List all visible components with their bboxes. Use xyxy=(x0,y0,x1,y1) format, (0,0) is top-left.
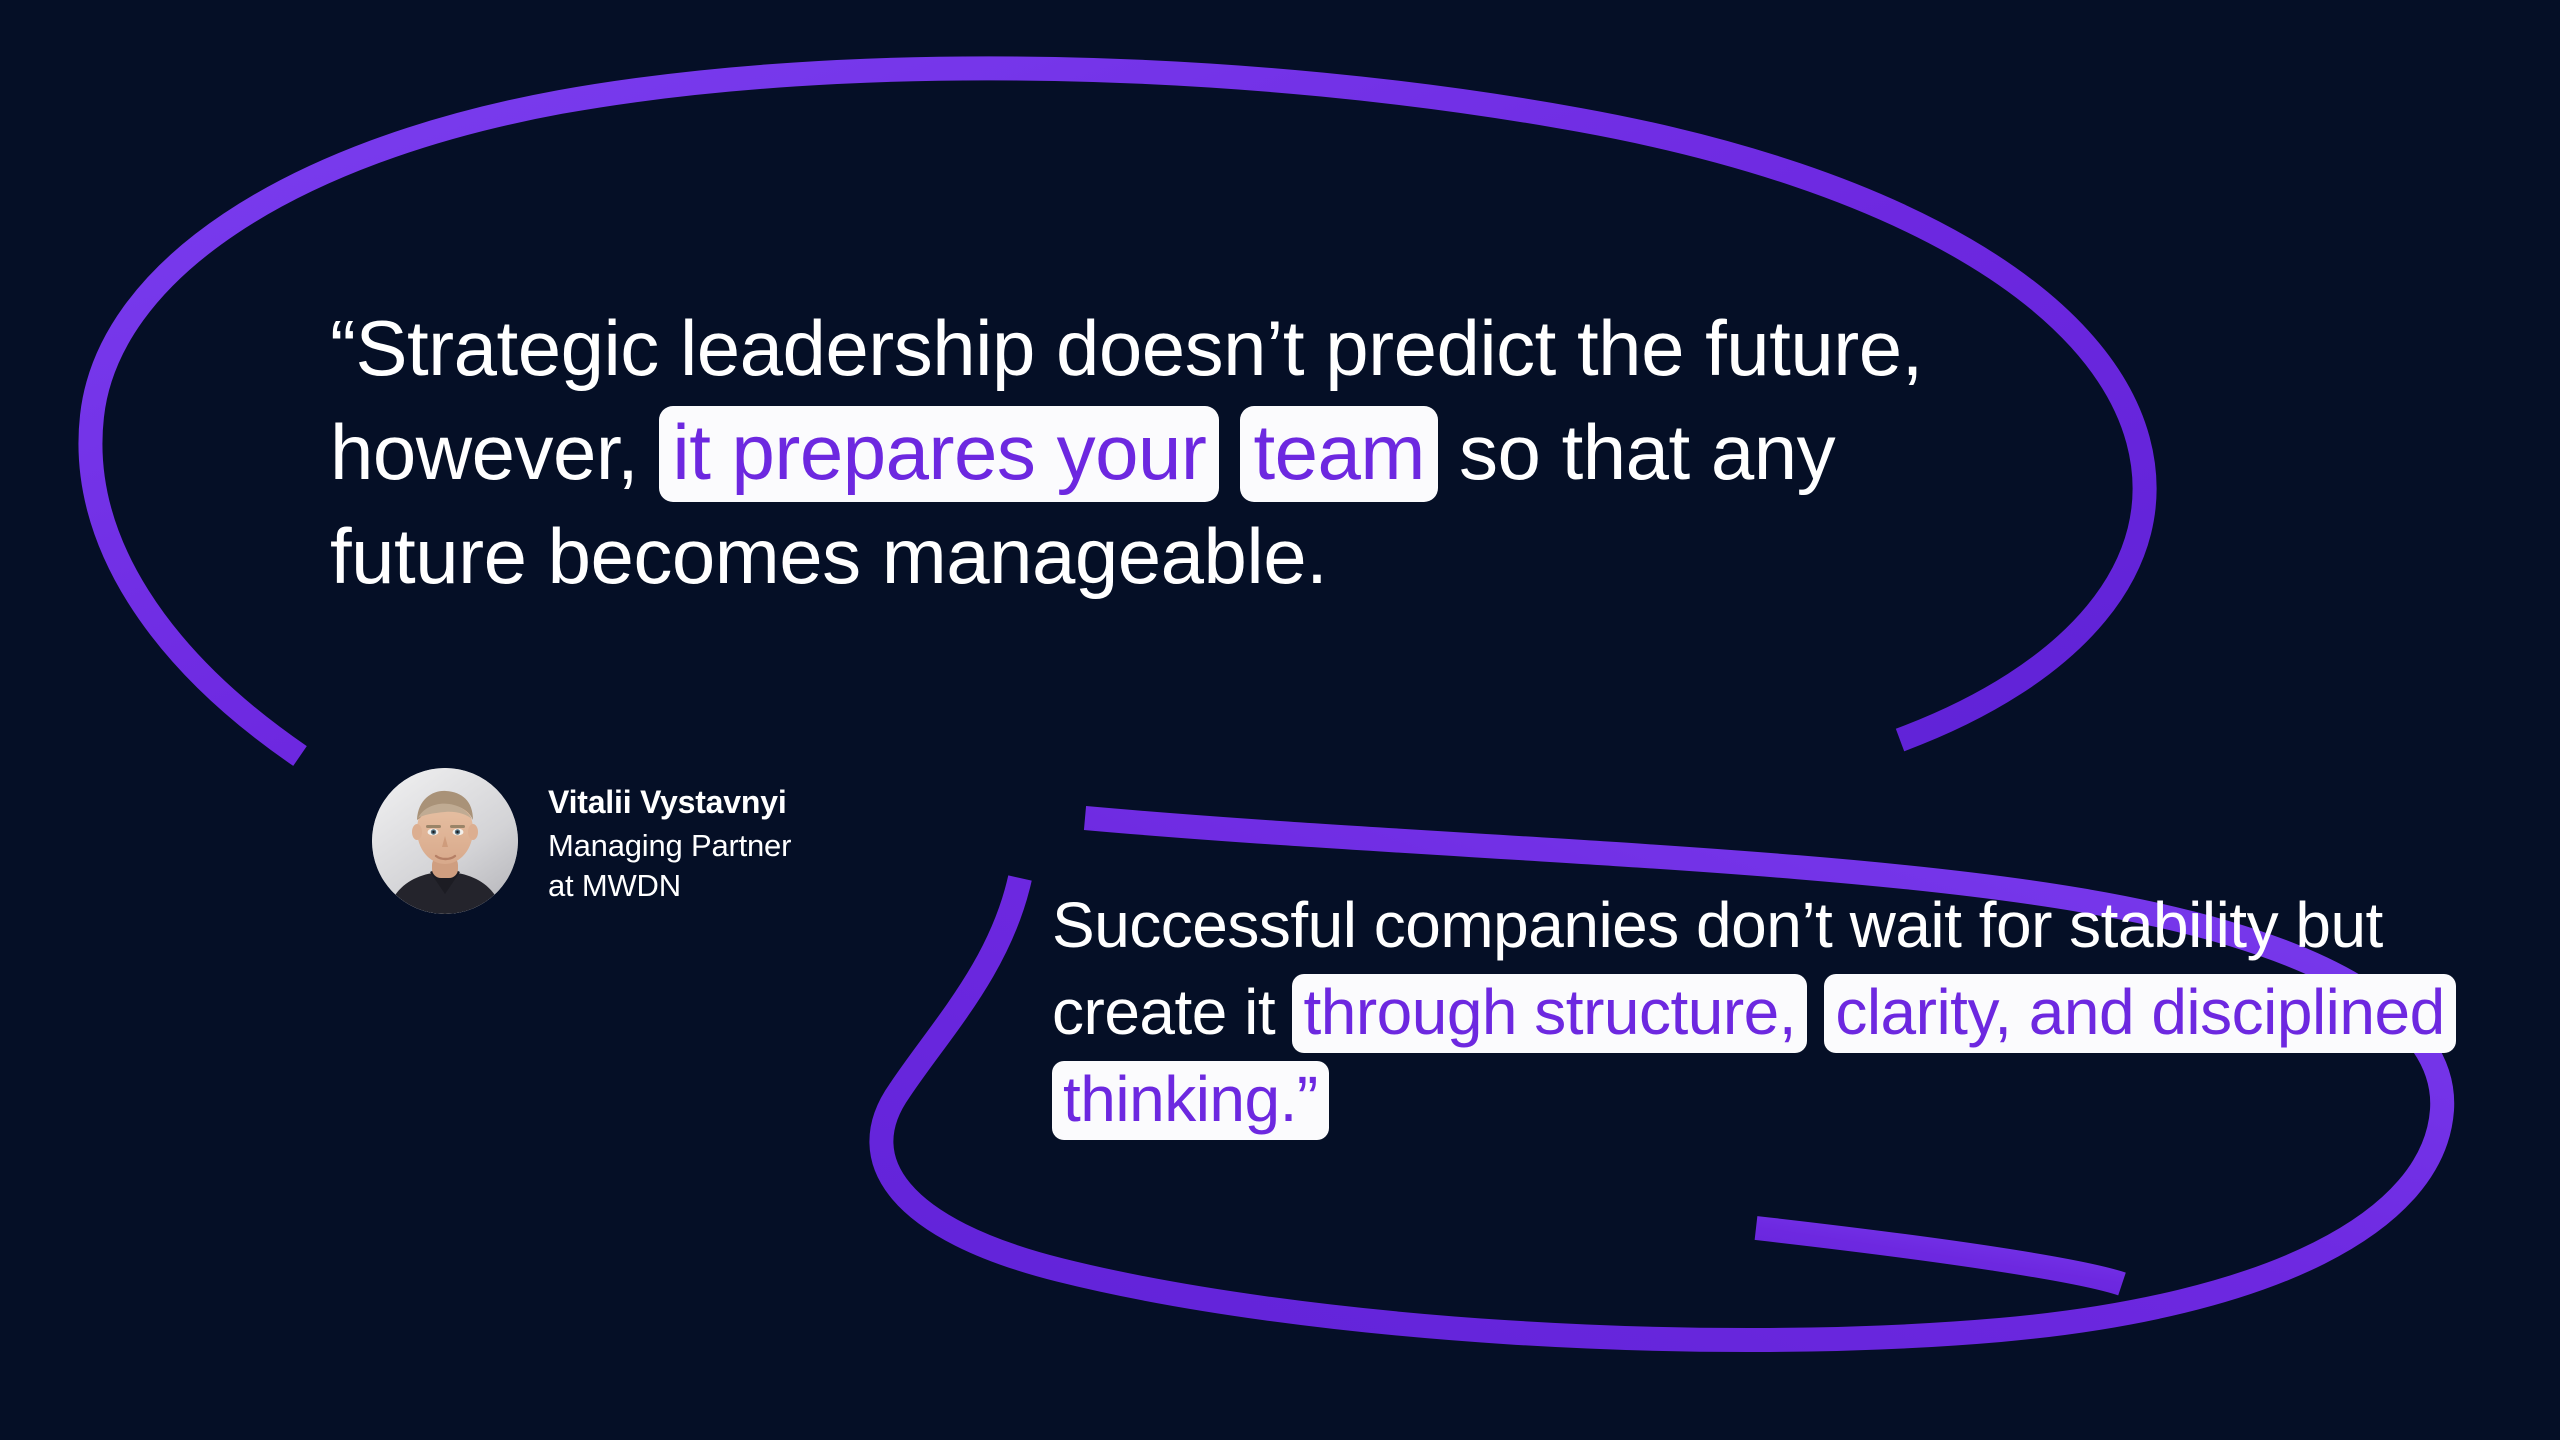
hand-drawn-ellipse-bottom-tail-icon xyxy=(1756,1228,2122,1284)
author-role-line-1: Managing Partner xyxy=(548,826,791,866)
secondary-quote: Successful companies don’t wait for stab… xyxy=(1052,882,2452,1143)
author-text: Vitalii Vystavnyi Managing Partner at MW… xyxy=(548,768,791,906)
decorative-ellipses xyxy=(0,0,2560,1440)
quote-highlight: it prepares your xyxy=(659,406,1219,502)
author-role: Managing Partner at MWDN xyxy=(548,826,791,906)
author-name: Vitalii Vystavnyi xyxy=(548,780,791,824)
quote-segment xyxy=(1219,408,1240,496)
quote-highlight: through structure, xyxy=(1292,974,1807,1053)
avatar xyxy=(372,768,518,914)
author-block: Vitalii Vystavnyi Managing Partner at MW… xyxy=(372,768,791,914)
avatar-portrait-icon xyxy=(372,768,518,914)
quote-slide: “Strategic leadership doesn’t predict th… xyxy=(0,0,2560,1440)
author-role-line-2: at MWDN xyxy=(548,866,791,906)
primary-quote: “Strategic leadership doesn’t predict th… xyxy=(330,296,1970,608)
quote-segment xyxy=(1807,976,1824,1048)
quote-highlight: team xyxy=(1240,406,1437,502)
